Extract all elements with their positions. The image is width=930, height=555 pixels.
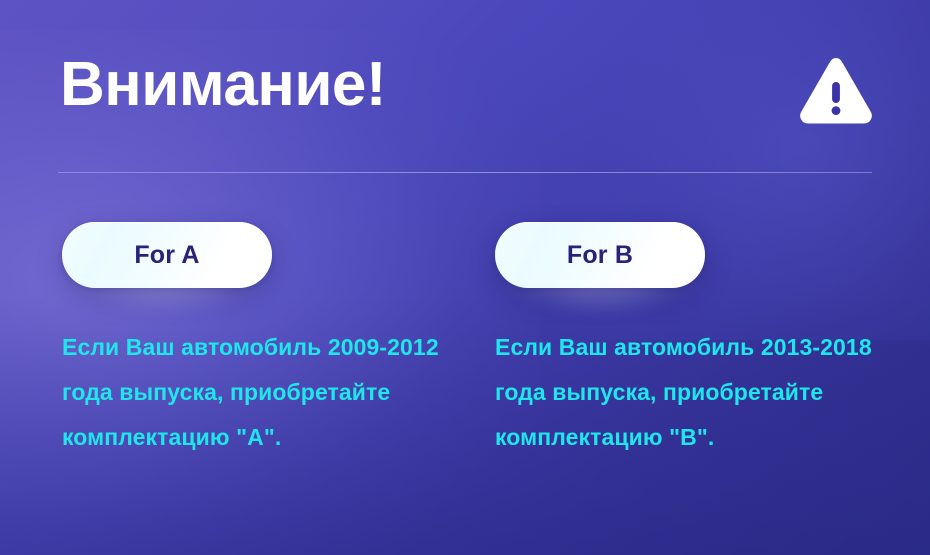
page-title: Внимание! [60, 52, 386, 119]
header-divider [58, 172, 872, 173]
warning-banner: Внимание! For A Если Ваш автомобиль 2009… [0, 0, 930, 555]
option-a-button-wrap: For A [62, 212, 272, 280]
option-column-b: For B Если Ваш автомобиль 2013-2018 года… [495, 212, 895, 280]
for-b-button-label: For B [567, 243, 633, 268]
for-a-button-label: For A [134, 243, 199, 268]
option-column-a: For A Если Ваш автомобиль 2009-2012 года… [62, 212, 462, 280]
banner-header: Внимание! [60, 52, 872, 142]
option-a-description: Если Ваш автомобиль 2009-2012 года выпус… [62, 325, 454, 460]
for-b-button[interactable]: For B [495, 222, 705, 288]
for-a-button[interactable]: For A [62, 222, 272, 288]
option-b-description: Если Ваш автомобиль 2013-2018 года выпус… [495, 325, 887, 460]
warning-triangle-icon [800, 58, 872, 126]
option-b-button-wrap: For B [495, 212, 705, 280]
